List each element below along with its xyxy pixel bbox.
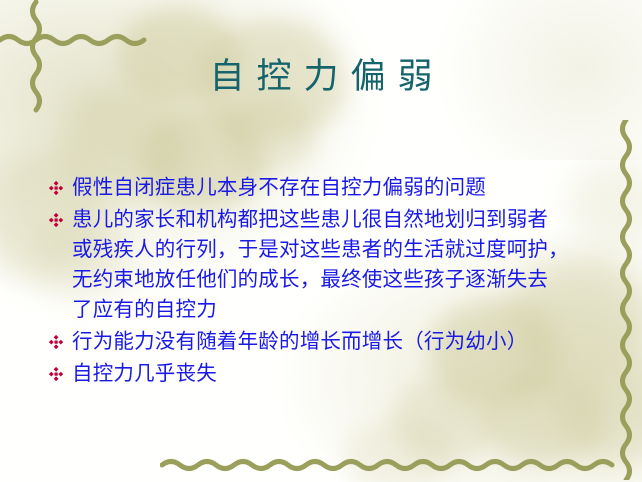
slide-title: 自控力偏弱	[0, 58, 642, 97]
list-item: 自控力几乎丧失	[46, 358, 616, 388]
bullet-list: 假性自闭症患儿本身不存在自控力偏弱的问题 患儿的家长和机构都把这些患儿很自然地划…	[46, 172, 616, 390]
wavy-horizontal-rule-bottom	[160, 452, 642, 478]
list-item-text: 患儿的家长和机构都把这些患儿很自然地划归到弱者 或残疾人的行列，于是对这些患者的…	[72, 204, 616, 324]
blurred-leaf-ornament	[224, 96, 316, 174]
list-item-text: 自控力几乎丧失	[72, 358, 616, 388]
wavy-vertical-rule-right	[613, 120, 639, 480]
floret-bullet-icon	[46, 204, 72, 234]
blurred-leaf-ornament	[344, 420, 454, 482]
floret-bullet-icon	[46, 326, 72, 356]
list-item: 行为能力没有随着年龄的增长而增长（行为幼小）	[46, 326, 616, 356]
floret-bullet-icon	[46, 358, 72, 388]
list-item-text: 行为能力没有随着年龄的增长而增长（行为幼小）	[72, 326, 616, 356]
list-item: 患儿的家长和机构都把这些患儿很自然地划归到弱者 或残疾人的行列，于是对这些患者的…	[46, 204, 616, 324]
list-item-text: 假性自闭症患儿本身不存在自控力偏弱的问题	[72, 172, 616, 202]
blurred-leaf-ornament	[392, 378, 496, 462]
floret-bullet-icon	[46, 172, 72, 202]
slide-canvas: 自控力偏弱 假性自闭症患儿本身不存在自控力偏弱的问题	[0, 0, 642, 482]
list-item: 假性自闭症患儿本身不存在自控力偏弱的问题	[46, 172, 616, 202]
